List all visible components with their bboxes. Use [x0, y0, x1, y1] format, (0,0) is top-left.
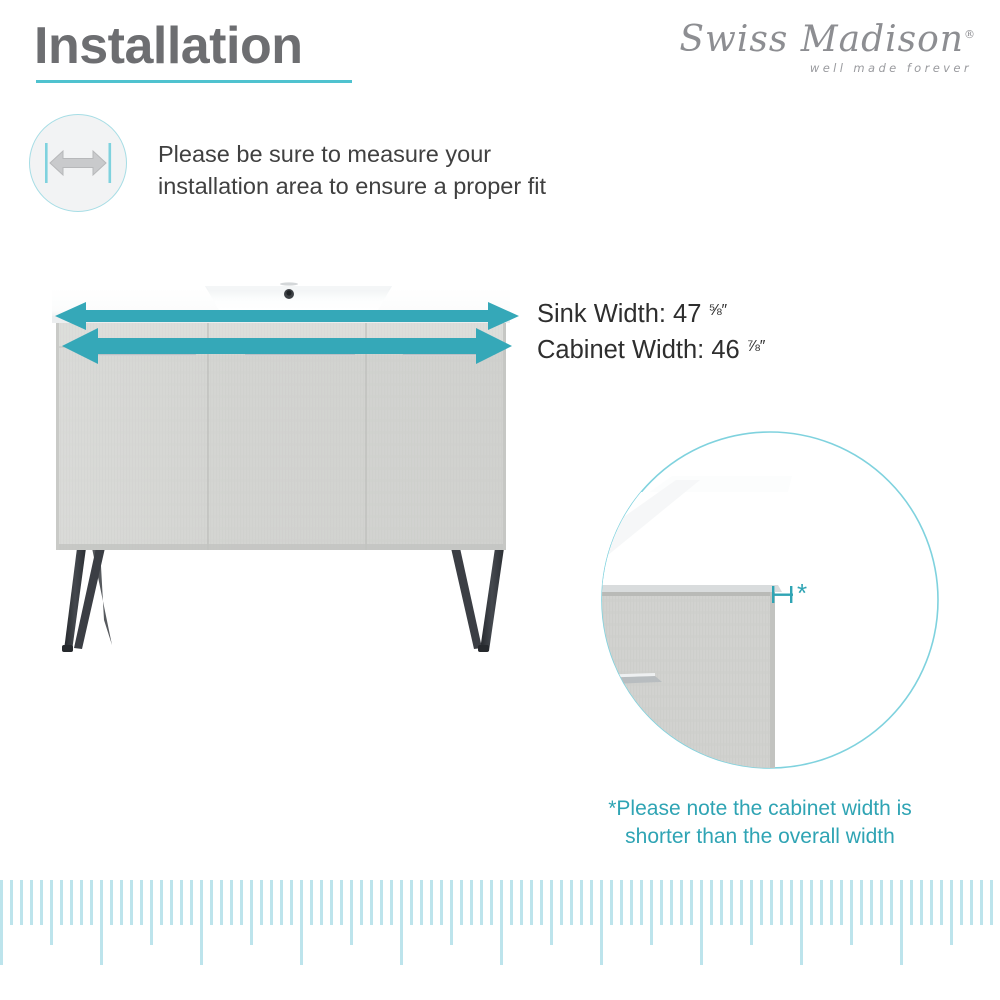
- ruler-tick: [270, 880, 273, 925]
- ruler-tick: [220, 880, 223, 925]
- ruler-tick: [960, 880, 963, 925]
- ruler-tick: [580, 880, 583, 925]
- dimension-arrows: [55, 302, 519, 364]
- ruler-tick: [990, 880, 993, 925]
- sink-width-text: Sink Width: 47: [537, 300, 701, 328]
- ruler-tick: [150, 880, 153, 945]
- ruler-tick: [210, 880, 213, 925]
- ruler-tick: [940, 880, 943, 925]
- vanity-legs: [62, 548, 504, 652]
- ruler-tick: [760, 880, 763, 925]
- ruler-tick: [450, 880, 453, 945]
- ruler-tick: [130, 880, 133, 925]
- ruler-tick: [590, 880, 593, 925]
- measure-icon-circle: [29, 114, 127, 212]
- ruler-tick: [170, 880, 173, 925]
- ruler-tick: [230, 880, 233, 925]
- ruler-tick: [510, 880, 513, 925]
- ruler-tick: [650, 880, 653, 945]
- handle-right: [403, 352, 495, 356]
- ruler-tick: [770, 880, 773, 925]
- ruler-tick: [40, 880, 43, 925]
- ruler-tick: [900, 880, 903, 965]
- ruler-tick: [460, 880, 463, 925]
- page-title: Installation: [34, 20, 302, 72]
- ruler-tick: [680, 880, 683, 925]
- ruler-tick: [100, 880, 103, 965]
- ruler-tick: [790, 880, 793, 925]
- ruler-tick: [400, 880, 403, 965]
- measure-instruction-line2: installation area to ensure a proper fit: [158, 170, 546, 202]
- ruler-tick: [50, 880, 53, 945]
- ruler-tick: [890, 880, 893, 925]
- footnote-line2: shorter than the overall width: [560, 823, 960, 851]
- ruler-tick: [260, 880, 263, 925]
- ruler-tick: [190, 880, 193, 925]
- registered-mark: ®: [964, 28, 976, 41]
- ruler-tick: [300, 880, 303, 965]
- ruler-tick: [360, 880, 363, 925]
- brand-name: Swiss Madison®: [676, 22, 976, 58]
- ruler-tick: [310, 880, 313, 925]
- ruler-tick: [570, 880, 573, 925]
- ruler-tick: [440, 880, 443, 925]
- ruler-tick: [330, 880, 333, 925]
- sink-width-unit: ″: [721, 302, 726, 319]
- ruler-tick: [540, 880, 543, 925]
- detail-dimension-marker: *: [772, 578, 807, 608]
- ruler-tick: [280, 880, 283, 925]
- ruler-tick: [690, 880, 693, 925]
- cabinet-width-footnote: *Please note the cabinet width is shorte…: [560, 795, 960, 852]
- ruler-tick: [620, 880, 623, 925]
- ruler-tick: [670, 880, 673, 925]
- ruler-tick: [950, 880, 953, 945]
- ruler-tick: [390, 880, 393, 925]
- cabinet-width-label: Cabinet Width: 46 ⅞″: [537, 332, 765, 368]
- ruler-tick: [980, 880, 983, 925]
- title-underline: [36, 80, 352, 83]
- ruler-tick: [420, 880, 423, 925]
- measure-instruction: Please be sure to measure your installat…: [158, 138, 546, 203]
- cabinet-width-fraction: ⅞: [747, 338, 760, 355]
- ruler-tick: [0, 880, 3, 965]
- ruler-tick: [970, 880, 973, 925]
- ruler-tick: [160, 880, 163, 925]
- dimension-labels: Sink Width: 47 ⅝″ Cabinet Width: 46 ⅞″: [537, 296, 765, 368]
- ruler-tick: [700, 880, 703, 965]
- ruler-tick: [490, 880, 493, 925]
- ruler-tick: [30, 880, 33, 925]
- ruler-tick: [430, 880, 433, 925]
- ruler-tick: [560, 880, 563, 925]
- ruler-tick: [200, 880, 203, 965]
- vanity-handles: [86, 352, 495, 356]
- cabinet-width-unit: ″: [760, 338, 765, 355]
- ruler-tick: [480, 880, 483, 925]
- ruler-tick: [350, 880, 353, 945]
- ruler-tick: [340, 880, 343, 925]
- detail-asterisk: *: [797, 578, 807, 608]
- ruler-tick: [180, 880, 183, 925]
- ruler-tick: [370, 880, 373, 925]
- ruler-tick: [930, 880, 933, 925]
- ruler-tick: [20, 880, 23, 925]
- ruler-tick: [830, 880, 833, 925]
- ruler-tick: [870, 880, 873, 925]
- ruler-tick: [610, 880, 613, 925]
- ruler-tick: [110, 880, 113, 925]
- ruler-tick: [750, 880, 753, 945]
- ruler-tick: [60, 880, 63, 925]
- ruler-tick: [860, 880, 863, 925]
- sink-width-label: Sink Width: 47 ⅝″: [537, 296, 765, 332]
- cabinet-width-arrow: [62, 328, 512, 364]
- ruler-tick: [470, 880, 473, 925]
- ruler-tick: [710, 880, 713, 925]
- ruler-tick: [120, 880, 123, 925]
- ruler-tick: [600, 880, 603, 965]
- ruler-tick: [740, 880, 743, 925]
- ruler-tick: [810, 880, 813, 925]
- ruler-tick: [910, 880, 913, 925]
- brand-name-text: Swiss Madison: [679, 19, 964, 60]
- ruler-graphic: [0, 880, 1000, 1000]
- ruler-tick: [140, 880, 143, 925]
- vanity-cabinet: [56, 323, 506, 550]
- ruler-tick: [80, 880, 83, 925]
- ruler-tick: [500, 880, 503, 965]
- ruler-tick: [70, 880, 73, 925]
- ruler-tick: [240, 880, 243, 925]
- sink-width-fraction: ⅝: [709, 302, 722, 319]
- ruler-tick: [920, 880, 923, 925]
- ruler-tick: [800, 880, 803, 965]
- ruler-tick: [290, 880, 293, 925]
- ruler-tick: [640, 880, 643, 925]
- ruler-tick: [10, 880, 13, 925]
- footnote-line1: *Please note the cabinet width is: [560, 795, 960, 823]
- ruler-tick: [730, 880, 733, 925]
- handle-left: [86, 352, 196, 356]
- ruler-tick: [320, 880, 323, 925]
- ruler-tick: [660, 880, 663, 925]
- cabinet-width-text: Cabinet Width: 46: [537, 336, 740, 364]
- brand-logo: Swiss Madison® well made forever: [676, 22, 976, 75]
- ruler-tick: [410, 880, 413, 925]
- sink-width-arrow: [55, 302, 519, 330]
- vanity-leg-right: [451, 548, 504, 652]
- ruler-tick: [630, 880, 633, 925]
- brand-tagline: well made forever: [676, 61, 972, 75]
- double-arrow-measure-icon: [30, 115, 126, 211]
- ruler-tick: [520, 880, 523, 925]
- ruler-tick: [780, 880, 783, 925]
- ruler-tick: [820, 880, 823, 925]
- ruler-tick: [720, 880, 723, 925]
- ruler-tick: [250, 880, 253, 945]
- measure-instruction-line1: Please be sure to measure your: [158, 138, 546, 170]
- ruler-tick: [880, 880, 883, 925]
- ruler-tick: [850, 880, 853, 945]
- ruler-tick: [380, 880, 383, 925]
- ruler-tick: [530, 880, 533, 925]
- handle-center: [245, 352, 355, 356]
- ruler-tick: [840, 880, 843, 925]
- sink-drain: [284, 289, 294, 299]
- ruler-tick: [550, 880, 553, 945]
- vanity-countertop: [52, 282, 510, 323]
- ruler-tick: [90, 880, 93, 925]
- vanity-leg-left: [62, 548, 112, 652]
- detail-magnifier: *: [560, 432, 938, 812]
